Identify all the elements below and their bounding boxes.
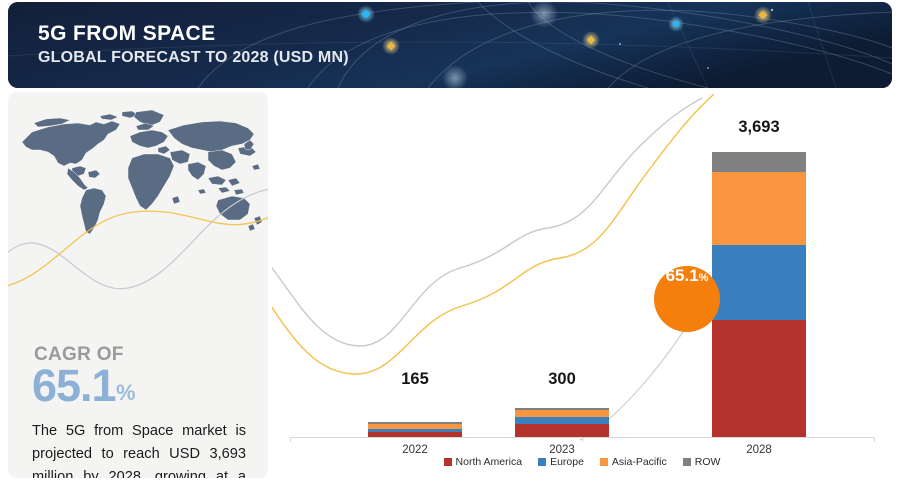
bar-segment-europe <box>515 417 609 424</box>
axis-tick <box>874 437 875 442</box>
legend-swatch-asia-pacific <box>600 458 608 466</box>
axis-tick <box>582 437 583 442</box>
legend-swatch-europe <box>538 458 546 466</box>
legend-swatch-row <box>683 458 691 466</box>
summary-description-text: The 5G from Space market is projected to… <box>32 423 246 478</box>
bar-total-2023: 300 <box>502 370 622 389</box>
cagr-percent-symbol: % <box>116 380 136 406</box>
summary-card: CAGR OF 65.1 % The 5G from Space market … <box>8 92 268 478</box>
bar-segment-north-america <box>712 320 806 437</box>
header-banner: 5G FROM SPACE GLOBAL FORECAST TO 2028 (U… <box>8 2 892 88</box>
bar-segment-row <box>712 152 806 172</box>
bar-total-2022: 165 <box>355 370 475 389</box>
infographic-page: 5G FROM SPACE GLOBAL FORECAST TO 2028 (U… <box>0 0 900 482</box>
legend-item-row[interactable]: ROW <box>683 456 721 468</box>
legend-label-asia-pacific: Asia-Pacific <box>612 456 667 468</box>
bar-segment-north-america <box>515 424 609 437</box>
axis-tick <box>290 437 291 442</box>
bar-chart: 165 2022 300 2023 3,693 2028 65 <box>272 92 892 478</box>
page-title: 5G FROM SPACE <box>38 22 216 46</box>
cagr-badge-unit: % <box>699 272 709 284</box>
cagr-badge-value: 65.1 <box>666 266 699 286</box>
legend-swatch-north-america <box>444 458 452 466</box>
category-label-2028: 2028 <box>699 444 819 456</box>
category-label-2023: 2023 <box>502 444 622 456</box>
bar-segment-europe <box>712 245 806 320</box>
cagr-value: 65.1 <box>32 360 116 412</box>
bar-segment-north-america <box>368 432 462 437</box>
legend-label-north-america: North America <box>456 456 523 468</box>
bar-total-2028: 3,693 <box>699 118 819 137</box>
legend-label-row: ROW <box>695 456 721 468</box>
cagr-badge[interactable]: 65.1% <box>654 266 720 332</box>
bar-2022[interactable] <box>368 422 462 437</box>
bar-2028[interactable] <box>712 152 806 437</box>
chart-legend: North America Europe Asia-Pacific ROW <box>272 456 892 468</box>
category-label-2022: 2022 <box>355 444 475 456</box>
legend-label-europe: Europe <box>550 456 584 468</box>
legend-item-north-america[interactable]: North America <box>444 456 523 468</box>
bar-segment-asia-pacific <box>515 410 609 417</box>
summary-description: The 5G from Space market is projected to… <box>32 420 246 478</box>
bar-2023[interactable] <box>515 408 609 437</box>
bar-segment-asia-pacific <box>712 172 806 245</box>
chart-panel: 165 2022 300 2023 3,693 2028 65 <box>272 92 892 478</box>
legend-item-asia-pacific[interactable]: Asia-Pacific <box>600 456 667 468</box>
legend-item-europe[interactable]: Europe <box>538 456 584 468</box>
page-subtitle: GLOBAL FORECAST TO 2028 (USD MN) <box>38 49 349 67</box>
